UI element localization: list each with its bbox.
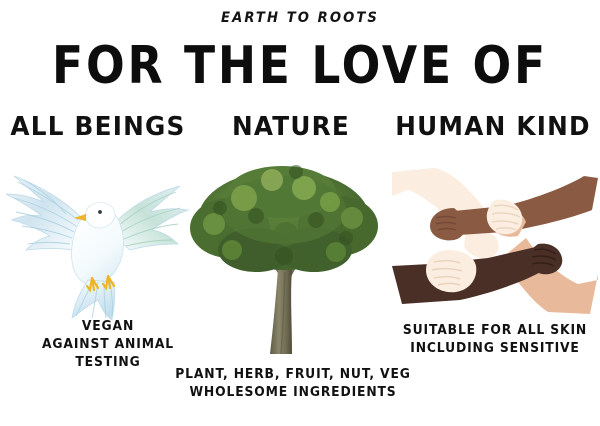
caption-all-beings: VEGAN AGAINST ANIMAL TESTING xyxy=(23,318,194,372)
caption-line: WHOLESOME INGREDIENTS xyxy=(169,384,418,402)
caption-line: SUITABLE FOR ALL SKIN xyxy=(397,322,593,340)
poster-canvas: EARTH TO ROOTS FOR THE LOVE OF ALL BEING… xyxy=(0,0,600,426)
tree-trunk xyxy=(270,270,292,354)
caption-line: VEGAN xyxy=(23,318,194,336)
brand-name: EARTH TO ROOTS xyxy=(18,10,582,26)
caption-line: INCLUDING SENSITIVE xyxy=(397,340,593,358)
caption-nature: PLANT, HERB, FRUIT, NUT, VEG WHOLESOME I… xyxy=(169,366,418,402)
interlocking-arms-icon xyxy=(392,166,598,316)
page-title: FOR THE LOVE OF xyxy=(21,38,579,93)
dove-head xyxy=(86,203,115,228)
caption-line: PLANT, HERB, FRUIT, NUT, VEG xyxy=(169,366,418,384)
column-title-human-kind: HUMAN KIND xyxy=(391,112,594,142)
tree-icon xyxy=(186,158,382,358)
dove-left-wing xyxy=(6,176,82,250)
caption-human-kind: SUITABLE FOR ALL SKIN INCLUDING SENSITIV… xyxy=(397,322,593,358)
column-title-nature: NATURE xyxy=(201,112,382,142)
caption-line: AGAINST ANIMAL xyxy=(23,336,194,354)
dove-eye xyxy=(98,210,102,214)
column-title-all-beings: ALL BEINGS xyxy=(5,112,191,142)
dove-icon xyxy=(4,152,194,322)
